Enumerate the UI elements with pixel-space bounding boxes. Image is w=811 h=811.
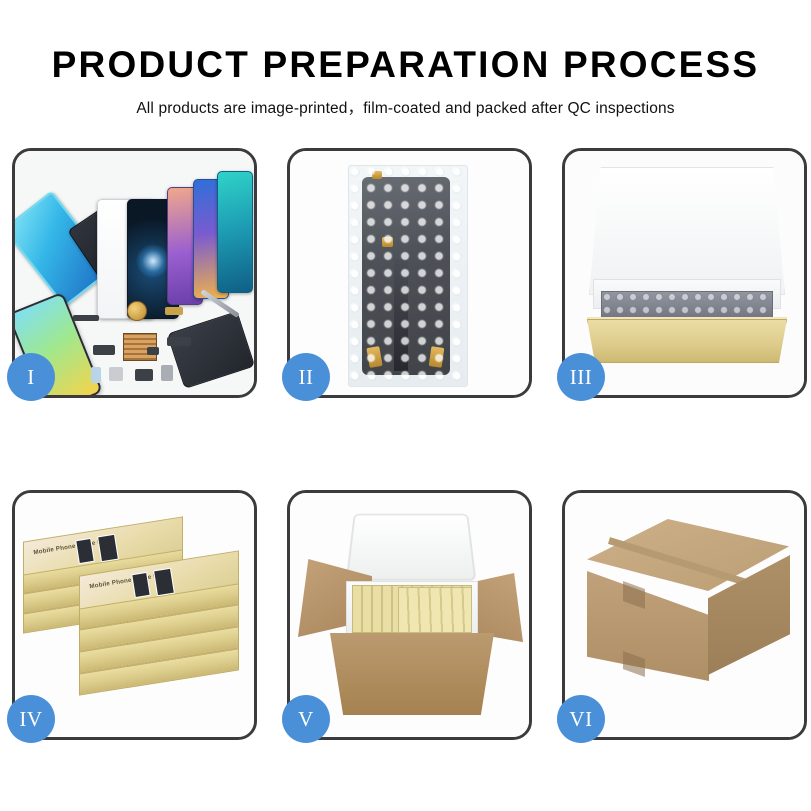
foam-lid-open — [346, 514, 477, 581]
step-badge-6: VI — [557, 695, 605, 743]
step-badge-4: IV — [7, 695, 55, 743]
step-badge-2: II — [282, 353, 330, 401]
step-badge-3: III — [557, 353, 605, 401]
phone-screen-teal — [217, 171, 253, 293]
spare-part — [165, 307, 183, 315]
box-lid-open — [589, 167, 785, 295]
spare-part — [147, 347, 159, 355]
spare-part — [167, 337, 191, 346]
step-3-image — [565, 151, 804, 395]
gold-connector-tab — [429, 346, 445, 368]
process-step-grid: I II III — [12, 148, 802, 740]
camera-module-part — [127, 301, 147, 321]
infographic-page: PRODUCT PREPARATION PROCESS All products… — [0, 0, 811, 811]
step-5-image — [290, 493, 529, 737]
carton-front-face — [587, 571, 709, 681]
step-badge-1: I — [7, 353, 55, 401]
carton-body — [330, 633, 494, 715]
gold-connector-tab — [382, 237, 393, 247]
spare-part — [91, 367, 101, 383]
spare-part — [135, 369, 153, 381]
spare-part — [161, 365, 173, 381]
spare-part — [73, 315, 99, 321]
step-6-image — [565, 493, 804, 737]
gold-connector-tab — [372, 171, 382, 179]
gold-boxes-in-carton — [398, 587, 472, 633]
process-step-4: Mobile Phone Spare Parts Mobile Phone Sp… — [12, 490, 257, 740]
process-step-6: VI — [562, 490, 807, 740]
box-window-graphic — [153, 568, 175, 596]
step-badge-5: V — [282, 695, 330, 743]
box-window-graphic — [97, 534, 119, 562]
process-step-2: II — [287, 148, 532, 398]
spare-part — [93, 345, 115, 355]
step-4-image: Mobile Phone Spare Parts Mobile Phone Sp… — [15, 493, 254, 737]
process-step-1: I — [12, 148, 257, 398]
page-title: PRODUCT PREPARATION PROCESS — [0, 46, 811, 85]
step-1-image — [15, 151, 254, 395]
phone-chassis-opened — [167, 311, 254, 389]
flex-cable — [394, 259, 408, 371]
process-step-3: III — [562, 148, 807, 398]
box-stack: Mobile Phone Spare Parts Mobile Phone Sp… — [21, 517, 253, 727]
gold-box-base — [587, 319, 787, 363]
header: PRODUCT PREPARATION PROCESS All products… — [0, 0, 811, 118]
spare-part — [109, 367, 123, 381]
page-subtitle: All products are image-printed，film-coat… — [0, 96, 811, 118]
step-2-image — [290, 151, 529, 395]
process-step-5: V — [287, 490, 532, 740]
